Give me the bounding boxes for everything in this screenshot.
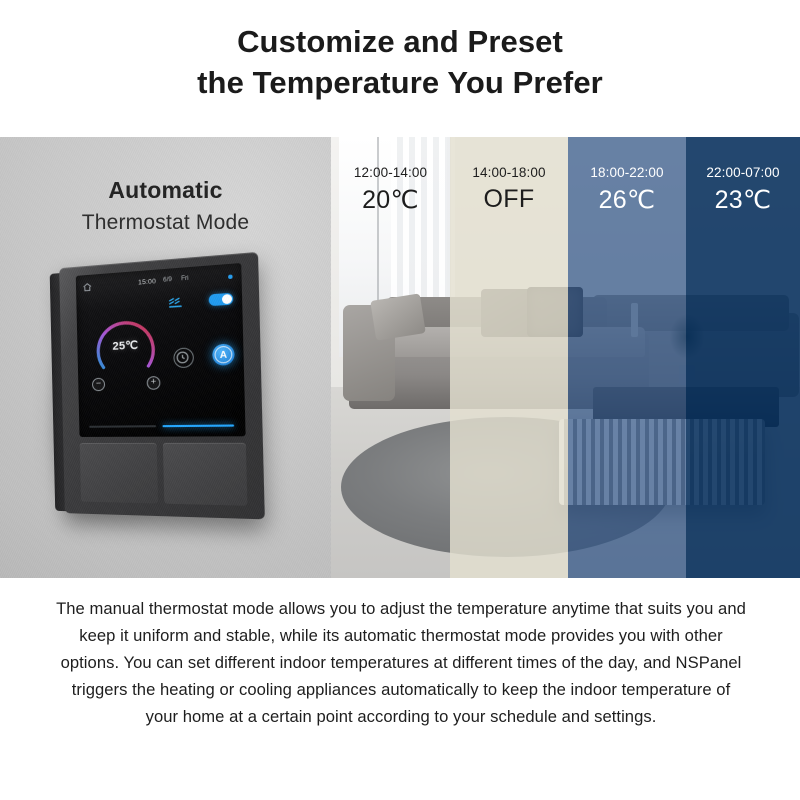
- home-icon[interactable]: [82, 282, 93, 293]
- zone-time: 14:00-18:00: [450, 165, 568, 180]
- auto-mode-icon[interactable]: A: [212, 343, 235, 365]
- zone-time: 12:00-14:00: [331, 165, 450, 180]
- page-indicator-inactive[interactable]: [89, 425, 156, 428]
- screen-date: 6/9: [163, 277, 172, 284]
- zone-value: OFF: [450, 185, 568, 214]
- device-side-edge: [50, 273, 69, 511]
- zone-value: 26℃: [568, 185, 686, 215]
- schedule-zone: 14:00-18:00 OFF: [450, 137, 568, 578]
- auto-ring: [214, 346, 232, 364]
- schedule-zone: 18:00-22:00 26℃: [568, 137, 686, 578]
- zone-value: 23℃: [686, 185, 800, 215]
- mode-subtitle: Thermostat Mode: [0, 211, 331, 235]
- screen-time: 15:00: [138, 278, 156, 287]
- plus-icon[interactable]: +: [147, 376, 161, 390]
- physical-button-left[interactable]: [80, 443, 158, 504]
- description-paragraph: The manual thermostat mode allows you to…: [56, 596, 746, 730]
- device-body: 15:00 6/9 Fri: [59, 252, 265, 520]
- temperature-gauge[interactable]: 25℃ − +: [86, 298, 166, 392]
- current-temperature: 25℃: [87, 337, 165, 354]
- clock-timer-icon[interactable]: [173, 347, 194, 368]
- screen-controls: A: [168, 289, 238, 398]
- schedule-zone: 12:00-14:00 20℃: [331, 137, 450, 578]
- auto-label: A: [220, 349, 227, 360]
- physical-button-row: [80, 443, 248, 506]
- page-indicator-active[interactable]: [162, 424, 234, 427]
- schedule-zone: 22:00-07:00 23℃: [686, 137, 800, 578]
- zone-time: 18:00-22:00: [568, 165, 686, 180]
- wall-panel-scene: Automatic Thermostat Mode: [0, 137, 331, 578]
- hero-band: Automatic Thermostat Mode: [0, 137, 800, 578]
- marketing-page: Customize and Preset the Temperature You…: [0, 0, 800, 800]
- status-dot-icon: [228, 274, 233, 279]
- zone-value: 20℃: [331, 185, 450, 215]
- power-toggle[interactable]: [209, 293, 234, 306]
- toggle-knob: [222, 294, 232, 304]
- heating-waves-icon[interactable]: [168, 295, 183, 309]
- physical-button-right[interactable]: [163, 443, 248, 506]
- headline-line-1: Customize and Preset: [237, 24, 563, 59]
- zone-time: 22:00-07:00: [686, 165, 800, 180]
- minus-icon[interactable]: −: [92, 378, 105, 392]
- screen-status-bar: 15:00 6/9 Fri: [82, 270, 235, 294]
- screen-weekday: Fri: [181, 276, 189, 283]
- nspanel-device: 15:00 6/9 Fri: [59, 252, 265, 520]
- page-title: Customize and Preset the Temperature You…: [0, 22, 800, 104]
- mode-title: Automatic: [0, 177, 331, 204]
- screen-glare: [76, 263, 246, 398]
- device-screen[interactable]: 15:00 6/9 Fri: [76, 263, 246, 437]
- headline-line-2: the Temperature You Prefer: [0, 63, 800, 104]
- living-room-photo: 12:00-14:00 20℃ 14:00-18:00 OFF 18:00-22…: [331, 137, 800, 578]
- device-shadow: [46, 260, 272, 534]
- schedule-zones: 12:00-14:00 20℃ 14:00-18:00 OFF 18:00-22…: [331, 137, 800, 578]
